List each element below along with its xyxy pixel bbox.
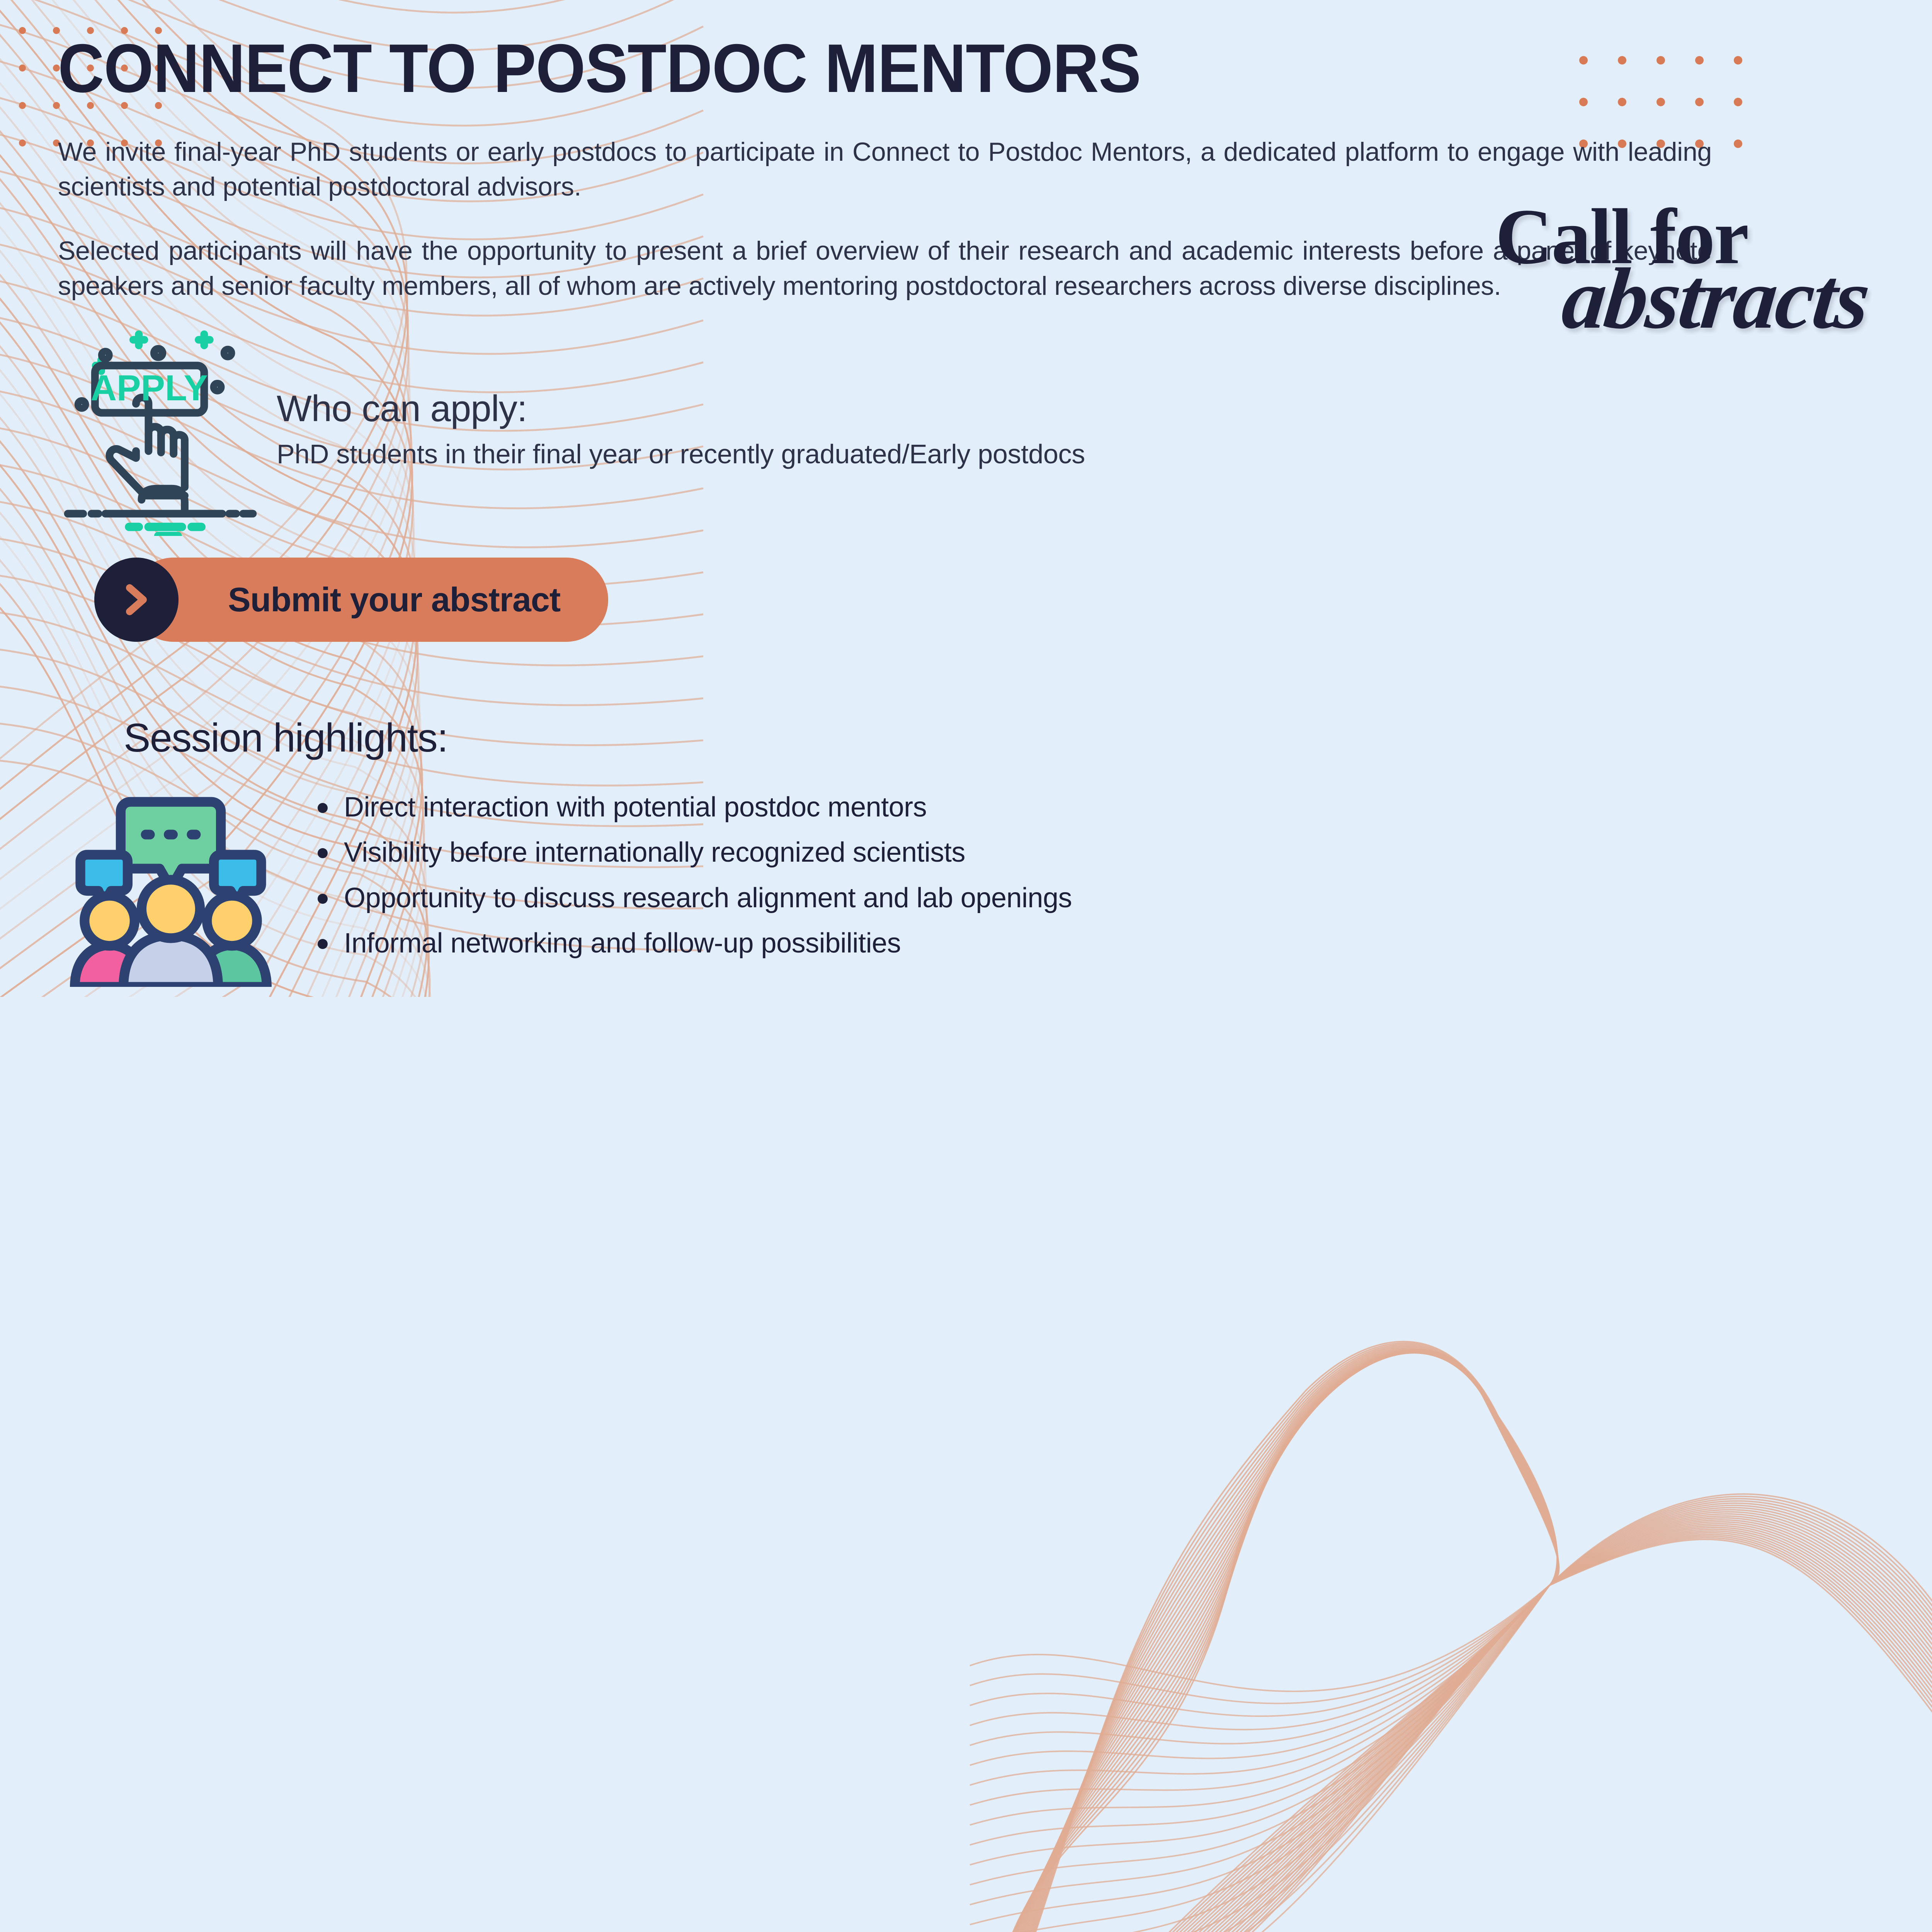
submit-abstract-label: Submit your abstract [228, 580, 560, 619]
who-can-apply-text: Who can apply: PhD students in their fin… [277, 388, 1085, 469]
list-item: Direct interaction with potential postdo… [312, 792, 1072, 823]
who-can-apply-description: PhD students in their final year or rece… [277, 439, 1085, 469]
intro-paragraph-2: Selected participants will have the oppo… [58, 233, 1712, 303]
who-can-apply-section: APPLY Who can apply: PhD students in the… [58, 337, 1932, 536]
list-item: Visibility before internationally recogn… [312, 837, 1072, 868]
page-title: CONNECT TO POSTDOC MENTORS [58, 33, 1495, 104]
apply-button-click-icon: APPLY [53, 327, 261, 536]
list-item: Opportunity to discuss research alignmen… [312, 883, 1072, 913]
who-can-apply-heading: Who can apply: [277, 388, 1085, 430]
poster-content: CONNECT TO POSTDOC MENTORS We invite fin… [0, 0, 1932, 987]
call-for-abstracts-badge: Call for abstracts [1495, 197, 1932, 359]
session-highlights-heading: Session highlights: [124, 715, 1932, 761]
submit-abstract-button[interactable]: Submit your abstract [131, 558, 608, 642]
group-discussion-icon [66, 778, 275, 987]
chevron-right-icon [94, 558, 179, 642]
intro-paragraph-1: We invite final-year PhD students or ear… [58, 134, 1712, 204]
line-art-decoration-center [947, 1321, 1932, 1932]
apply-icon-label: APPLY [90, 367, 207, 408]
session-highlights-list: Direct interaction with potential postdo… [312, 792, 1072, 973]
list-item: Informal networking and follow-up possib… [312, 928, 1072, 959]
session-highlights-section: Direct interaction with potential postdo… [58, 778, 1932, 987]
call-for-abstracts-line2: abstracts [1559, 259, 1932, 338]
